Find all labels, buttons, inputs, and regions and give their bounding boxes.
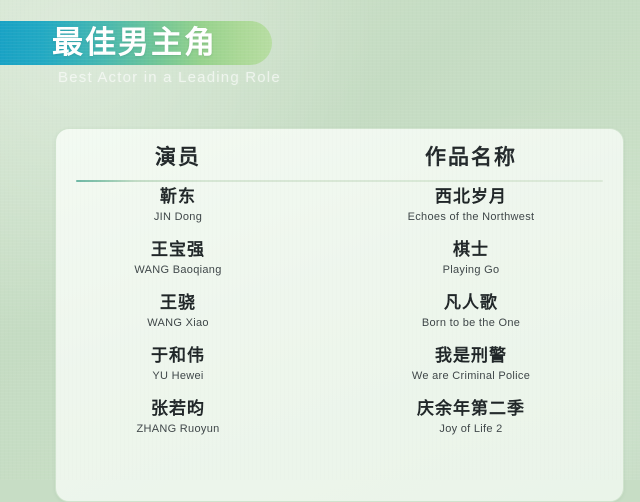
actor-name-en: WANG Baoqiang bbox=[55, 262, 328, 278]
nominee-rows: 靳东 JIN Dong 西北岁月 Echoes of the Northwest… bbox=[56, 185, 623, 450]
actor-cell: 于和伟 YU Hewei bbox=[55, 344, 328, 384]
work-title-cn: 西北岁月 bbox=[321, 185, 621, 209]
actor-name-en: YU Hewei bbox=[55, 368, 328, 384]
table-row: 王骁 WANG Xiao 凡人歌 Born to be the One bbox=[56, 291, 623, 344]
actor-cell: 王宝强 WANG Baoqiang bbox=[55, 238, 328, 278]
work-title-cn: 我是刑警 bbox=[321, 344, 621, 368]
header-divider bbox=[76, 180, 603, 182]
work-title-cn: 凡人歌 bbox=[321, 291, 621, 315]
nominees-card: 演员 作品名称 靳东 JIN Dong 西北岁月 Echoes of the N… bbox=[55, 128, 624, 502]
actor-name-cn: 张若昀 bbox=[55, 397, 328, 421]
page-background: 最佳男主角 Best Actor in a Leading Role 演员 作品… bbox=[0, 0, 640, 480]
work-cell: 西北岁月 Echoes of the Northwest bbox=[321, 185, 621, 225]
category-banner: 最佳男主角 bbox=[0, 21, 272, 65]
actor-name-cn: 王骁 bbox=[55, 291, 328, 315]
column-header-work: 作品名称 bbox=[425, 141, 517, 171]
actor-name-en: WANG Xiao bbox=[55, 315, 328, 331]
actor-name-cn: 于和伟 bbox=[55, 344, 328, 368]
table-row: 于和伟 YU Hewei 我是刑警 We are Criminal Police bbox=[56, 344, 623, 397]
work-title-en: Echoes of the Northwest bbox=[321, 209, 621, 225]
actor-cell: 王骁 WANG Xiao bbox=[55, 291, 328, 331]
banner-title: 最佳男主角 bbox=[52, 21, 217, 65]
actor-name-en: ZHANG Ruoyun bbox=[55, 421, 328, 437]
work-title-en: We are Criminal Police bbox=[321, 368, 621, 384]
table-row: 王宝强 WANG Baoqiang 棋士 Playing Go bbox=[56, 238, 623, 291]
work-title-en: Playing Go bbox=[321, 262, 621, 278]
work-title-en: Born to be the One bbox=[321, 315, 621, 331]
work-cell: 我是刑警 We are Criminal Police bbox=[321, 344, 621, 384]
banner-subtitle: Best Actor in a Leading Role bbox=[58, 69, 281, 86]
work-cell: 棋士 Playing Go bbox=[321, 238, 621, 278]
column-header-actor: 演员 bbox=[155, 141, 201, 171]
work-title-cn: 庆余年第二季 bbox=[321, 397, 621, 421]
table-header-row: 演员 作品名称 bbox=[56, 129, 623, 179]
actor-name-en: JIN Dong bbox=[55, 209, 328, 225]
actor-cell: 靳东 JIN Dong bbox=[55, 185, 328, 225]
actor-name-cn: 靳东 bbox=[55, 185, 328, 209]
work-title-cn: 棋士 bbox=[321, 238, 621, 262]
work-title-en: Joy of Life 2 bbox=[321, 421, 621, 437]
actor-name-cn: 王宝强 bbox=[55, 238, 328, 262]
work-cell: 凡人歌 Born to be the One bbox=[321, 291, 621, 331]
table-row: 张若昀 ZHANG Ruoyun 庆余年第二季 Joy of Life 2 bbox=[56, 397, 623, 450]
actor-cell: 张若昀 ZHANG Ruoyun bbox=[55, 397, 328, 437]
work-cell: 庆余年第二季 Joy of Life 2 bbox=[321, 397, 621, 437]
table-row: 靳东 JIN Dong 西北岁月 Echoes of the Northwest bbox=[56, 185, 623, 238]
